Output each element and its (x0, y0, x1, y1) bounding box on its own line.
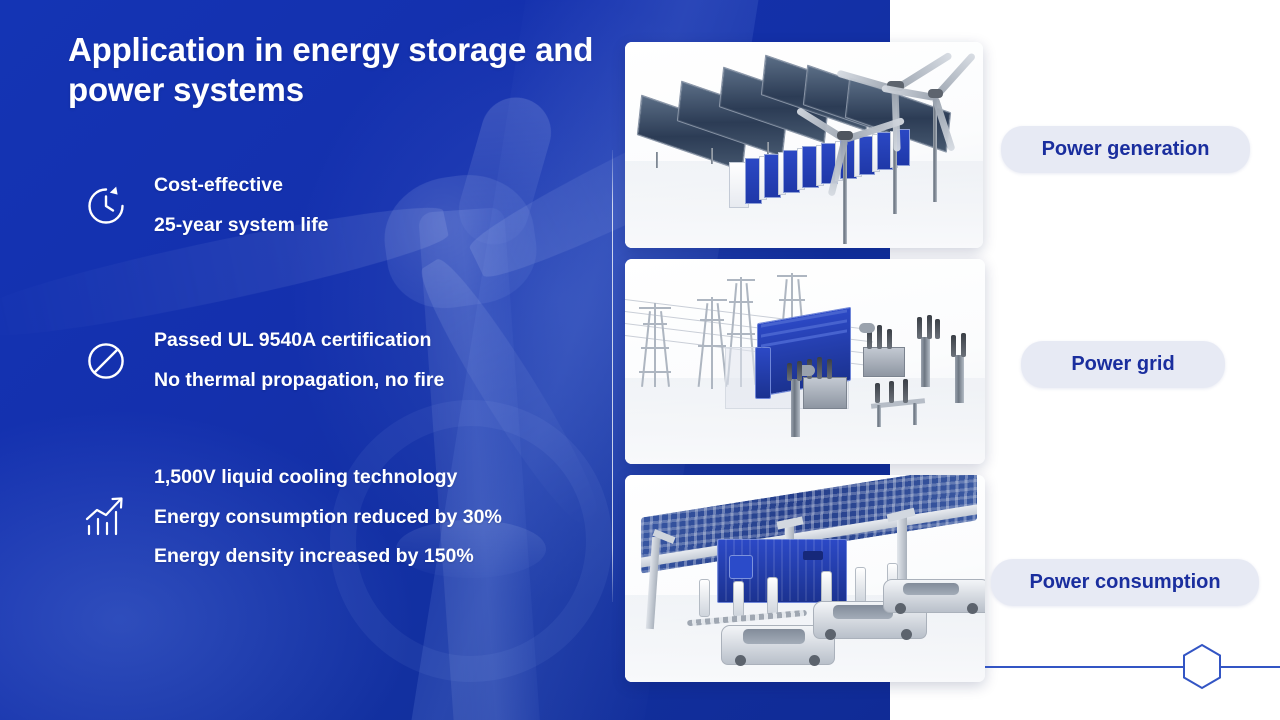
feature-item-ul-certification: Passed UL 9540A certification No thermal… (80, 331, 444, 390)
slide-root: Application in energy storage and power … (0, 0, 1280, 720)
clock-refresh-icon (80, 178, 132, 234)
feature-item-liquid-cooling: 1,500V liquid cooling technology Energy … (80, 468, 502, 567)
illustration-solar-carport-ev-charging (625, 475, 985, 682)
label-power-consumption[interactable]: Power consumption (991, 559, 1259, 606)
hexagon-outline-icon (1181, 643, 1223, 690)
image-card-power-grid[interactable] (625, 259, 985, 464)
pill-text: Power consumption (1029, 571, 1220, 594)
feature-line: 1,500V liquid cooling technology (154, 468, 502, 488)
feature-line: Cost-effective (154, 176, 329, 196)
feature-line: Energy density increased by 150% (154, 547, 502, 567)
pill-text: Power generation (1042, 138, 1210, 161)
feature-item-cost-effective: Cost-effective 25-year system life (80, 176, 329, 235)
illustration-substation-grid (625, 259, 985, 464)
feature-item-text: 1,500V liquid cooling technology Energy … (154, 468, 502, 567)
feature-line: Energy consumption reduced by 30% (154, 508, 502, 528)
image-card-power-consumption[interactable] (625, 475, 985, 682)
feature-item-text: Passed UL 9540A certification No thermal… (154, 331, 444, 390)
feature-item-text: Cost-effective 25-year system life (154, 176, 329, 235)
vertical-divider (612, 150, 613, 602)
feature-line: Passed UL 9540A certification (154, 331, 444, 351)
pill-text: Power grid (1071, 353, 1174, 376)
illustration-solar-wind-storage (625, 42, 983, 248)
slide-title: Application in energy storage and power … (68, 30, 628, 111)
image-card-power-generation[interactable] (625, 42, 983, 248)
horizontal-connector-line (985, 666, 1280, 668)
feature-line: No thermal propagation, no fire (154, 371, 444, 391)
label-power-generation[interactable]: Power generation (1001, 126, 1250, 173)
bar-chart-growth-icon (80, 489, 132, 545)
feature-line: 25-year system life (154, 216, 329, 236)
prohibited-icon (80, 333, 132, 389)
label-power-grid[interactable]: Power grid (1021, 341, 1225, 388)
